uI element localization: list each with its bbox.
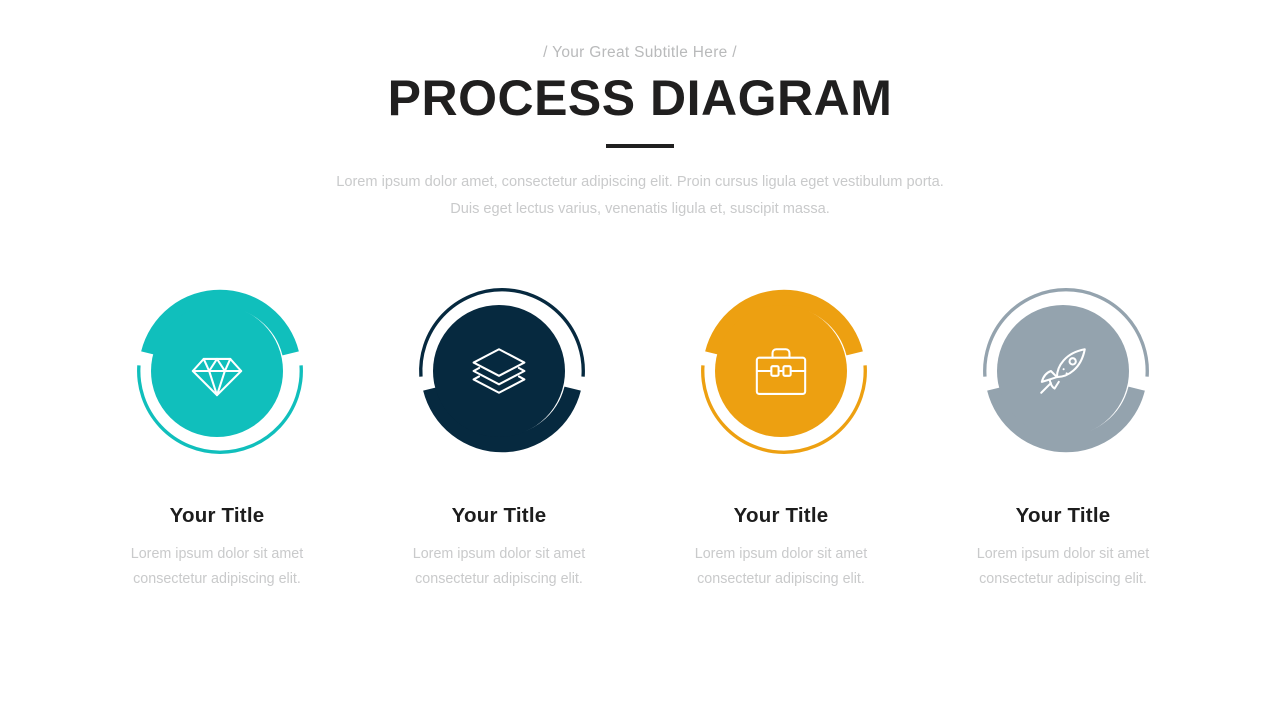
step-description-line-2: consectetur adipiscing elit. <box>415 571 583 587</box>
description-line-1: Lorem ipsum dolor amet, consectetur adip… <box>290 169 990 196</box>
step-description-line-1: Lorem ipsum dolor sit amet <box>977 546 1149 562</box>
title-divider <box>606 144 674 148</box>
briefcase-icon <box>752 342 810 400</box>
description-line-2: Duis eget lectus varius, venenatis ligul… <box>290 196 990 223</box>
layers-icon <box>470 342 528 400</box>
step-icon-badge[interactable] <box>404 268 594 488</box>
step-title: Your Title <box>734 504 829 528</box>
icon-disc <box>151 305 283 437</box>
slide-canvas: / Your Great Subtitle Here / PROCESS DIA… <box>0 0 1280 720</box>
page-title: PROCESS DIAGRAM <box>0 72 1280 125</box>
step-description-line-2: consectetur adipiscing elit. <box>133 571 301 587</box>
step-icon-badge[interactable] <box>686 268 876 488</box>
process-step-3[interactable]: Your TitleLorem ipsum dolor sit amet con… <box>640 268 922 592</box>
rocket-icon <box>1034 342 1092 400</box>
step-description-line-2: consectetur adipiscing elit. <box>979 571 1147 587</box>
step-description: Lorem ipsum dolor sit amet consectetur a… <box>666 542 896 592</box>
diamond-icon <box>188 342 246 400</box>
step-description-line-1: Lorem ipsum dolor sit amet <box>695 546 867 562</box>
step-description: Lorem ipsum dolor sit amet consectetur a… <box>102 542 332 592</box>
slide-subtitle: / Your Great Subtitle Here / <box>0 44 1280 61</box>
step-icon-badge[interactable] <box>122 268 312 488</box>
icon-disc <box>997 305 1129 437</box>
slide-description: Lorem ipsum dolor amet, consectetur adip… <box>290 169 990 223</box>
step-title: Your Title <box>452 504 547 528</box>
process-step-2[interactable]: Your TitleLorem ipsum dolor sit amet con… <box>358 268 640 592</box>
step-description: Lorem ipsum dolor sit amet consectetur a… <box>384 542 614 592</box>
step-description-line-1: Lorem ipsum dolor sit amet <box>131 546 303 562</box>
step-icon-badge[interactable] <box>968 268 1158 488</box>
step-description-line-2: consectetur adipiscing elit. <box>697 571 865 587</box>
process-steps: Your TitleLorem ipsum dolor sit amet con… <box>0 268 1280 592</box>
step-title: Your Title <box>170 504 265 528</box>
process-step-4[interactable]: Your TitleLorem ipsum dolor sit amet con… <box>922 268 1204 592</box>
slide-header: / Your Great Subtitle Here / PROCESS DIA… <box>0 0 1280 223</box>
icon-disc <box>715 305 847 437</box>
step-description-line-1: Lorem ipsum dolor sit amet <box>413 546 585 562</box>
step-title: Your Title <box>1016 504 1111 528</box>
step-description: Lorem ipsum dolor sit amet consectetur a… <box>948 542 1178 592</box>
process-step-1[interactable]: Your TitleLorem ipsum dolor sit amet con… <box>76 268 358 592</box>
icon-disc <box>433 305 565 437</box>
